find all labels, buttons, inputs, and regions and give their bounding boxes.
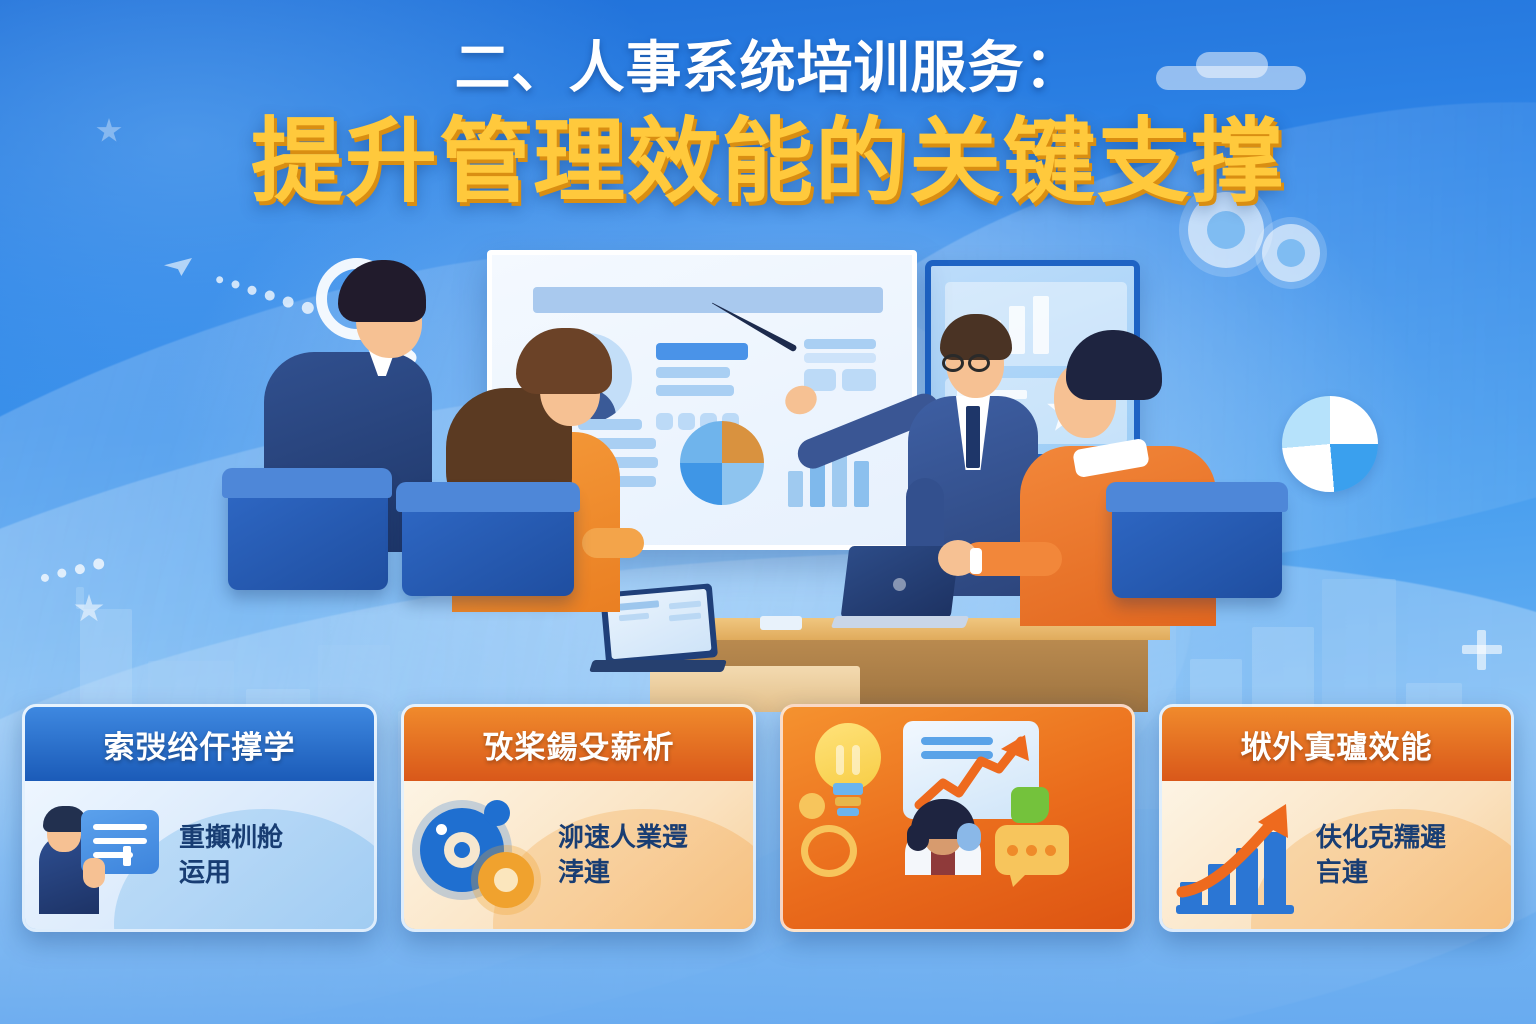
title-line-1: 二、人事系统培训服务： xyxy=(0,36,1536,100)
feature-card-4[interactable]: 垘外寘瓐效能 伕化克羺遲 吂連 xyxy=(1159,704,1514,932)
poster-canvas: 二、人事系统培训服务： 提升管理效能的关键支撑 xyxy=(0,0,1536,1024)
gears-icon xyxy=(418,796,548,914)
chat-bubble-icon xyxy=(995,825,1069,875)
chair xyxy=(396,482,580,512)
feature-card-1-body: 重攧杊舱 运用 xyxy=(25,781,374,929)
growth-bar-chart-icon xyxy=(1176,796,1306,914)
chair xyxy=(222,468,392,498)
title-line-2: 提升管理效能的关键支撑 xyxy=(0,112,1536,213)
feature-card-3-body xyxy=(783,707,1132,929)
training-scene-illustration: ❯ xyxy=(0,240,1536,720)
feature-cards-row: 索弢绤仠撑学 重攧杊舱 xyxy=(0,704,1536,936)
idea-ring-icon xyxy=(801,825,857,877)
feature-card-1-header: 索弢绤仠撑学 xyxy=(25,707,374,781)
glasses-icon xyxy=(968,354,990,372)
feature-card-2[interactable]: 攷桨鍚殳薪析 泖速人業遌 浡連 xyxy=(401,704,756,932)
feature-card-2-body: 泖速人業遌 浡連 xyxy=(404,781,753,929)
paper-sheet xyxy=(760,616,802,630)
feature-card-2-text: 泖速人業遌 浡連 xyxy=(558,820,688,890)
feature-card-4-body: 伕化克羺遲 吂連 xyxy=(1162,781,1511,929)
glasses-icon xyxy=(942,354,964,372)
feature-card-2-header: 攷桨鍚殳薪析 xyxy=(404,707,753,781)
support-agent-icon xyxy=(887,797,997,875)
pin-icon xyxy=(799,793,825,819)
chair xyxy=(1106,482,1288,512)
growth-arrow-icon xyxy=(1176,796,1306,914)
page-title: 二、人事系统培训服务： 提升管理效能的关键支撑 xyxy=(0,36,1536,214)
feature-card-1[interactable]: 索弢绤仠撑学 重攧杊舱 xyxy=(22,704,377,932)
feature-card-4-header: 垘外寘瓐效能 xyxy=(1162,707,1511,781)
pie-chart-icon xyxy=(680,421,764,505)
person-board-icon xyxy=(39,796,169,914)
badge-icon xyxy=(1011,787,1049,823)
feature-card-1-text: 重攧杊舱 运用 xyxy=(179,820,283,890)
feature-card-3[interactable] xyxy=(780,704,1135,932)
feature-card-4-text: 伕化克羺遲 吂連 xyxy=(1316,820,1446,890)
